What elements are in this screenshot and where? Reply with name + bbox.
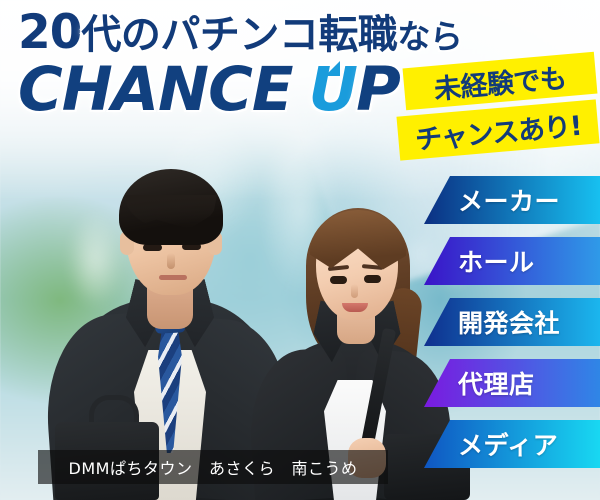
category-button-media[interactable]: メディア	[424, 420, 600, 468]
category-button-developer[interactable]: 開発会社	[424, 298, 600, 346]
headline-line-1-main: 代のパチンコ転職	[81, 12, 397, 58]
category-label: 開発会社	[458, 304, 560, 340]
category-button-list: メーカー ホール 開発会社 代理店 メディア	[0, 176, 600, 481]
brand-word-chance: CHANCE	[18, 59, 293, 120]
credit-bar: DMMぱちタウン あさくら 南こうめ	[38, 450, 388, 484]
brand-letter-p: P	[356, 59, 401, 120]
category-label: ホール	[458, 243, 535, 279]
category-button-hall[interactable]: ホール	[424, 237, 600, 285]
headline-age-number: 20	[18, 5, 81, 60]
category-button-agency[interactable]: 代理店	[424, 359, 600, 407]
category-label: メディア	[458, 426, 558, 462]
category-button-maker[interactable]: メーカー	[424, 176, 600, 224]
category-label: 代理店	[458, 365, 535, 401]
headline-line-2: CHANCE U P	[18, 59, 462, 120]
category-label: メーカー	[458, 182, 560, 218]
credit-text: DMMぱちタウン あさくら 南こうめ	[69, 455, 358, 479]
up-arrow-icon	[325, 61, 340, 76]
headline-line-1: 20代のパチンコ転職なら	[18, 8, 462, 57]
headline-line-1-tail: なら	[397, 17, 462, 56]
headline-block: 20代のパチンコ転職なら CHANCE U P	[18, 8, 462, 120]
promo-banner[interactable]: 20代のパチンコ転職なら CHANCE U P 未経験でも チャンスあり! メー…	[0, 0, 600, 500]
brand-word-up: U P	[309, 59, 401, 120]
